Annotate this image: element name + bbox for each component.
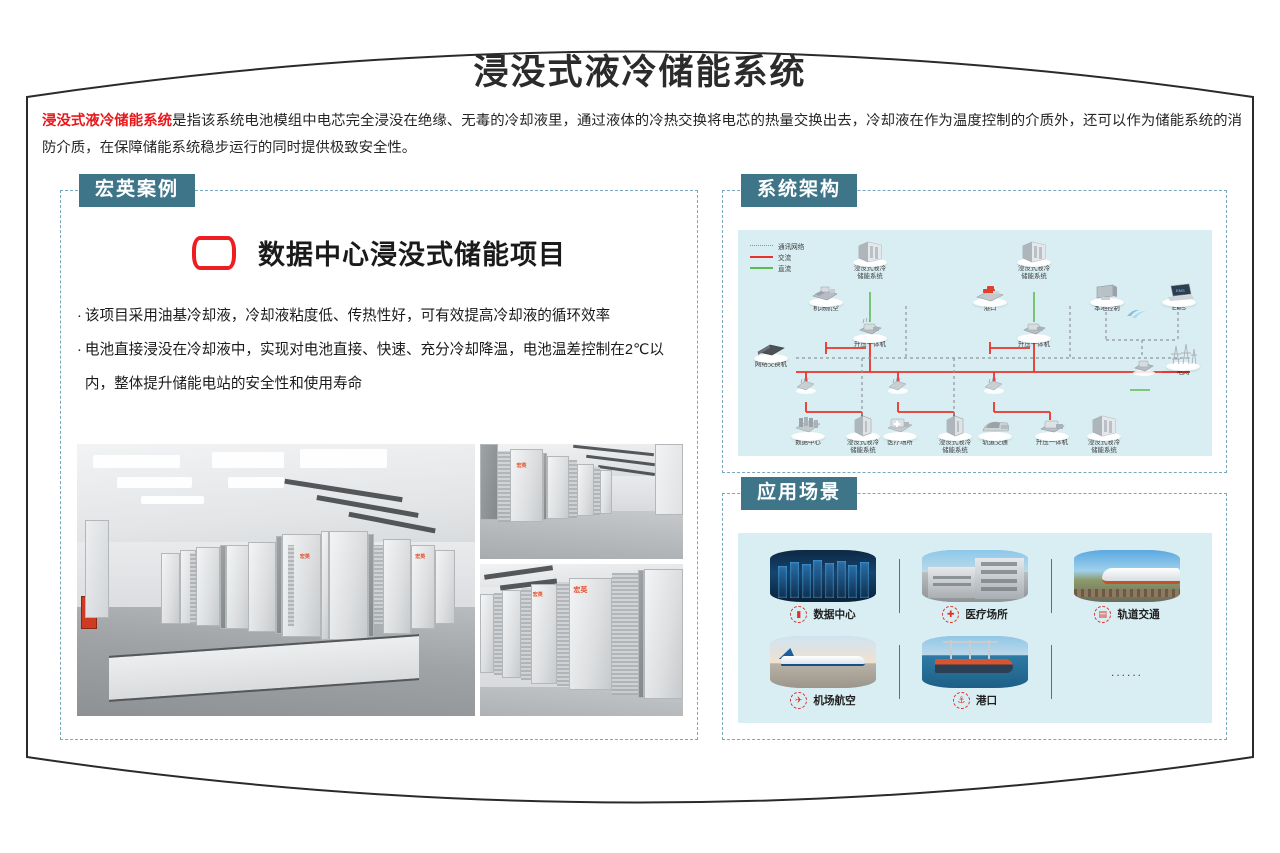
battery-rack-icon: [1005, 238, 1063, 264]
case-study-badge: 宏英案例: [79, 174, 195, 207]
arch-node-ess-rail: 浸没式液冷 储能系统: [1075, 412, 1133, 454]
legend-label: 交流: [778, 252, 791, 262]
bus-transformer-icon: [885, 374, 911, 399]
server-icon: [779, 412, 837, 438]
column-divider: [1051, 645, 1052, 699]
arch-node-switch: 网络交换机: [742, 334, 800, 369]
column-divider: [899, 559, 900, 613]
bullet-text: 该项目采用油基冷却液，冷却液粘度低、传热性好，可有效提高冷却液的循环效率: [85, 299, 685, 333]
page-title: 浸没式液冷储能系统: [0, 44, 1280, 95]
train-icon: [966, 412, 1024, 438]
laptop-icon: EMS: [1150, 278, 1208, 304]
bullet-marker: ·: [77, 299, 82, 333]
svg-text:EMS: EMS: [1176, 288, 1185, 293]
arch-node-ems: EMS EMS: [1150, 278, 1208, 313]
airport-icon: [797, 278, 855, 304]
plane-badge-icon: ✈: [790, 692, 807, 709]
app-item-rail[interactable]: ▤ 轨道交通: [1056, 543, 1198, 629]
architecture-panel: 系统架构: [722, 190, 1227, 473]
legend-item: 交流: [750, 251, 804, 262]
arch-node-label: 浸没式液冷 储能系统: [1075, 439, 1133, 454]
grid-transformer-icon: [1130, 356, 1158, 381]
architecture-badge: 系统架构: [741, 174, 857, 207]
intro-keyword: 浸没式液冷储能系统: [42, 113, 172, 129]
photo-collage: 宏英 宏英: [77, 444, 683, 716]
app-item-airport[interactable]: ✈ 机场航空: [752, 629, 894, 715]
bullet-marker: ·: [77, 333, 82, 401]
intro-paragraph: 浸没式液冷储能系统是指该系统电池模组中电芯完全浸没在绝缘、无毒的冷却液里，通过液…: [42, 108, 1242, 162]
hospital-icon: [871, 412, 929, 438]
list-item: · 电池直接浸没在冷却液中，实现对电池直接、快速、充分冷却降温，电池温差控制在2…: [77, 333, 685, 401]
battery-rack-icon: [841, 238, 899, 264]
legend-item: 通讯网络: [750, 240, 804, 251]
architecture-diagram: 通讯网络 交流 直流 浸没: [738, 230, 1212, 456]
arch-node-port: 港口: [961, 278, 1019, 313]
case-heading: 数据中心浸没式储能项目: [61, 233, 697, 272]
ellipsis-label: ......: [1111, 665, 1143, 679]
hospital-photo: [922, 550, 1028, 602]
bus-transformer-icon: [793, 374, 819, 399]
pylon-icon: [1154, 342, 1212, 368]
intro-body: 是指该系统电池模组中电芯完全浸没在绝缘、无毒的冷却液里，通过液体的冷热交换将电芯…: [42, 113, 1242, 156]
case-study-panel: 宏英案例 数据中心浸没式储能项目 · 该项目采用油基冷却液，冷却液粘度低、传热性…: [60, 190, 698, 740]
cloud-icon: [1124, 306, 1150, 320]
cabinet-closeup-photo: 宏英 宏英: [480, 564, 683, 716]
train-badge-icon: ▤: [1094, 606, 1111, 623]
applications-canvas: ▮ 数据中心: [738, 533, 1212, 723]
datacenter-corridor-photo: 宏英 宏英: [77, 444, 475, 716]
monitor-icon: [1078, 278, 1136, 304]
app-item-more: ......: [1056, 629, 1198, 715]
ac-line-icon: [750, 256, 773, 258]
app-label: 医疗场所: [965, 607, 1007, 622]
legend-item: 直流: [750, 262, 804, 273]
switch-icon: [742, 334, 800, 360]
arch-node-boost-b: 升压一体机: [1005, 314, 1063, 349]
case-heading-text: 数据中心浸没式储能项目: [258, 233, 566, 272]
cabinet-row-side-photo: 宏英: [480, 444, 683, 559]
applications-panel: 应用场景 ▮: [722, 493, 1227, 740]
app-item-port[interactable]: ⚓ 港口: [904, 629, 1046, 715]
datacenter-photo: [770, 550, 876, 602]
comm-line-icon: [750, 245, 773, 246]
arch-node-datacenter: 数据中心: [779, 412, 837, 447]
column-divider: [1051, 559, 1052, 613]
app-label: 数据中心: [813, 607, 855, 622]
rail-photo: [1074, 550, 1180, 602]
arch-node-airport: 机场航空: [797, 278, 855, 313]
arch-node-ess-b-top: 浸没式液冷 储能系统: [1005, 238, 1063, 280]
dc-line-icon: [750, 267, 773, 269]
bullet-text: 电池直接浸没在冷却液中，实现对电池直接、快速、充分冷却降温，电池温差控制在2℃以…: [85, 333, 685, 401]
applications-badge: 应用场景: [741, 477, 857, 510]
app-item-hospital[interactable]: ✚ 医疗场所: [904, 543, 1046, 629]
app-label: 轨道交通: [1117, 607, 1159, 622]
hospital-badge-icon: ✚: [942, 606, 959, 623]
legend-label: 直流: [778, 263, 791, 273]
chart-badge-icon: ▮: [790, 606, 807, 623]
transformer-icon: [1005, 314, 1063, 340]
battery-rack-icon: [1075, 412, 1133, 438]
arch-node-ess-a-top: 浸没式液冷 储能系统: [841, 238, 899, 280]
airport-photo: [770, 636, 876, 688]
arch-node-boost-c: 升压一体机: [1023, 412, 1081, 447]
bus-transformer-icon: [981, 374, 1007, 399]
transformer-icon: [1023, 412, 1081, 438]
arch-node-grid: 电网: [1154, 342, 1212, 377]
column-divider: [899, 645, 900, 699]
list-item: · 该项目采用油基冷却液，冷却液粘度低、传热性好，可有效提高冷却液的循环效率: [77, 299, 685, 333]
app-item-datacenter[interactable]: ▮ 数据中心: [752, 543, 894, 629]
app-label: 港口: [976, 693, 997, 708]
legend-label: 通讯网络: [778, 241, 804, 251]
rounded-square-marker-icon: [192, 236, 236, 270]
anchor-badge-icon: ⚓: [953, 692, 970, 709]
case-bullet-list: · 该项目采用油基冷却液，冷却液粘度低、传热性好，可有效提高冷却液的循环效率 ·…: [77, 299, 685, 401]
port-icon: [961, 278, 1019, 304]
arch-node-hospital: 医疗场所: [871, 412, 929, 447]
architecture-legend: 通讯网络 交流 直流: [750, 240, 804, 273]
arch-node-boost-a: 升压一体机: [841, 314, 899, 349]
port-photo: [922, 636, 1028, 688]
app-label: 机场航空: [813, 693, 855, 708]
arch-node-rail: 轨道交通: [966, 412, 1024, 447]
